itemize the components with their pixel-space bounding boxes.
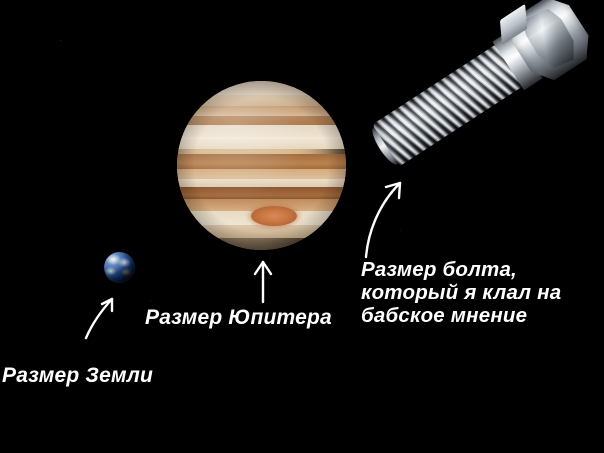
hex-bolt-image (360, 2, 596, 188)
jupiter-band (177, 95, 346, 109)
jupiter-band (177, 179, 346, 189)
caption-jupiter: Размер Юпитера (145, 306, 332, 330)
caption-bolt-line-2: который я клал на (361, 282, 561, 305)
bolt-body (369, 0, 589, 171)
earth-pointer-arrow (82, 288, 128, 342)
jupiter-band (177, 236, 346, 250)
star-speck (60, 40, 61, 41)
jupiter-band (177, 116, 346, 126)
earth-planet-image (104, 252, 135, 283)
jupiter-band (177, 154, 346, 171)
jupiter-band (177, 137, 346, 149)
jupiter-planet-image (177, 81, 346, 250)
caption-earth: Размер Земли (2, 364, 153, 388)
jupiter-band (177, 169, 346, 181)
jupiter-pointer-arrow (250, 258, 280, 304)
caption-bolt: Размер болта, который я клал на бабское … (361, 259, 561, 328)
jupiter-band (177, 211, 346, 226)
caption-bolt-line-1: Размер болта, (361, 259, 561, 282)
great-red-spot (251, 206, 297, 226)
jupiter-band (177, 187, 346, 201)
jupiter-band (177, 125, 346, 139)
jupiter-band (177, 147, 346, 155)
star-speck (400, 230, 401, 231)
jupiter-band (177, 199, 346, 213)
jupiter-band (177, 106, 346, 118)
star-speck (150, 300, 151, 301)
caption-bolt-line-3: бабское мнение (361, 305, 561, 328)
meme-canvas: Размер Земли Размер Юпитера Размер болта… (0, 0, 604, 453)
